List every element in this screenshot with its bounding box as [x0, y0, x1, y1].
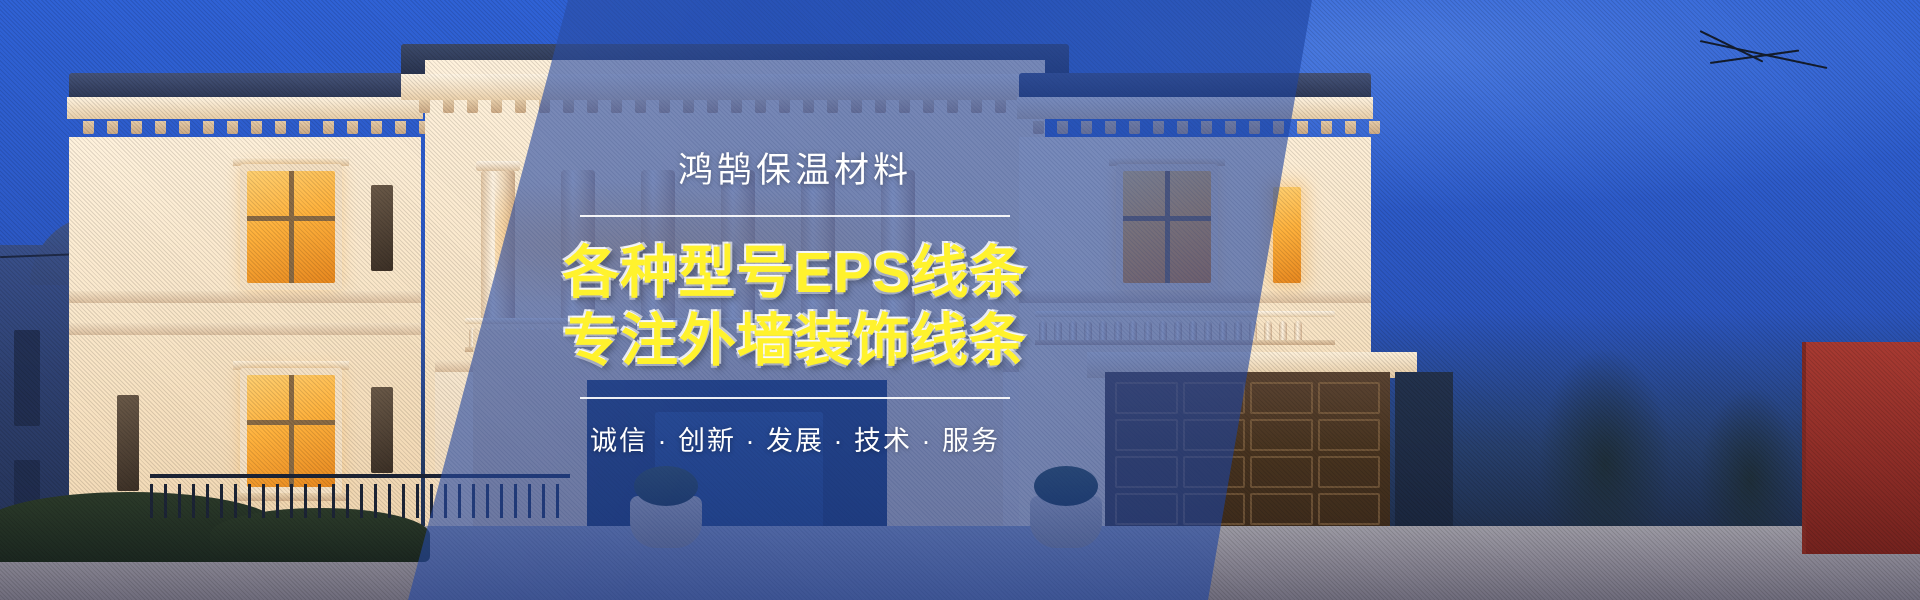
planter: [1030, 496, 1102, 548]
background-tree: [1540, 350, 1670, 540]
headline-group: 各种型号EPS线条 专注外墙装饰线条: [562, 243, 1027, 372]
promo-banner: 鸿鹄保温材料 各种型号EPS线条 专注外墙装饰线条 诚信 · 创新 · 发展 ·…: [0, 0, 1920, 600]
red-panel: [1802, 342, 1920, 554]
divider-bottom: [580, 397, 1010, 399]
lit-window: [1123, 171, 1211, 283]
headline-line-2: 专注外墙装饰线条: [562, 311, 1027, 373]
iron-railing: [150, 474, 570, 518]
lit-window: [247, 171, 335, 283]
headline-line-1: 各种型号EPS线条: [562, 243, 1027, 305]
divider-top: [580, 215, 1010, 217]
banner-text-block: 鸿鹄保温材料 各种型号EPS线条 专注外墙装饰线条 诚信 · 创新 · 发展 ·…: [560, 0, 1030, 600]
tagline: 诚信 · 创新 · 发展 · 技术 · 服务: [590, 419, 1000, 458]
brand-name: 鸿鹄保温材料: [678, 142, 912, 193]
lit-window: [247, 375, 335, 487]
lit-window: [1273, 187, 1301, 283]
background-tree: [1700, 390, 1800, 540]
